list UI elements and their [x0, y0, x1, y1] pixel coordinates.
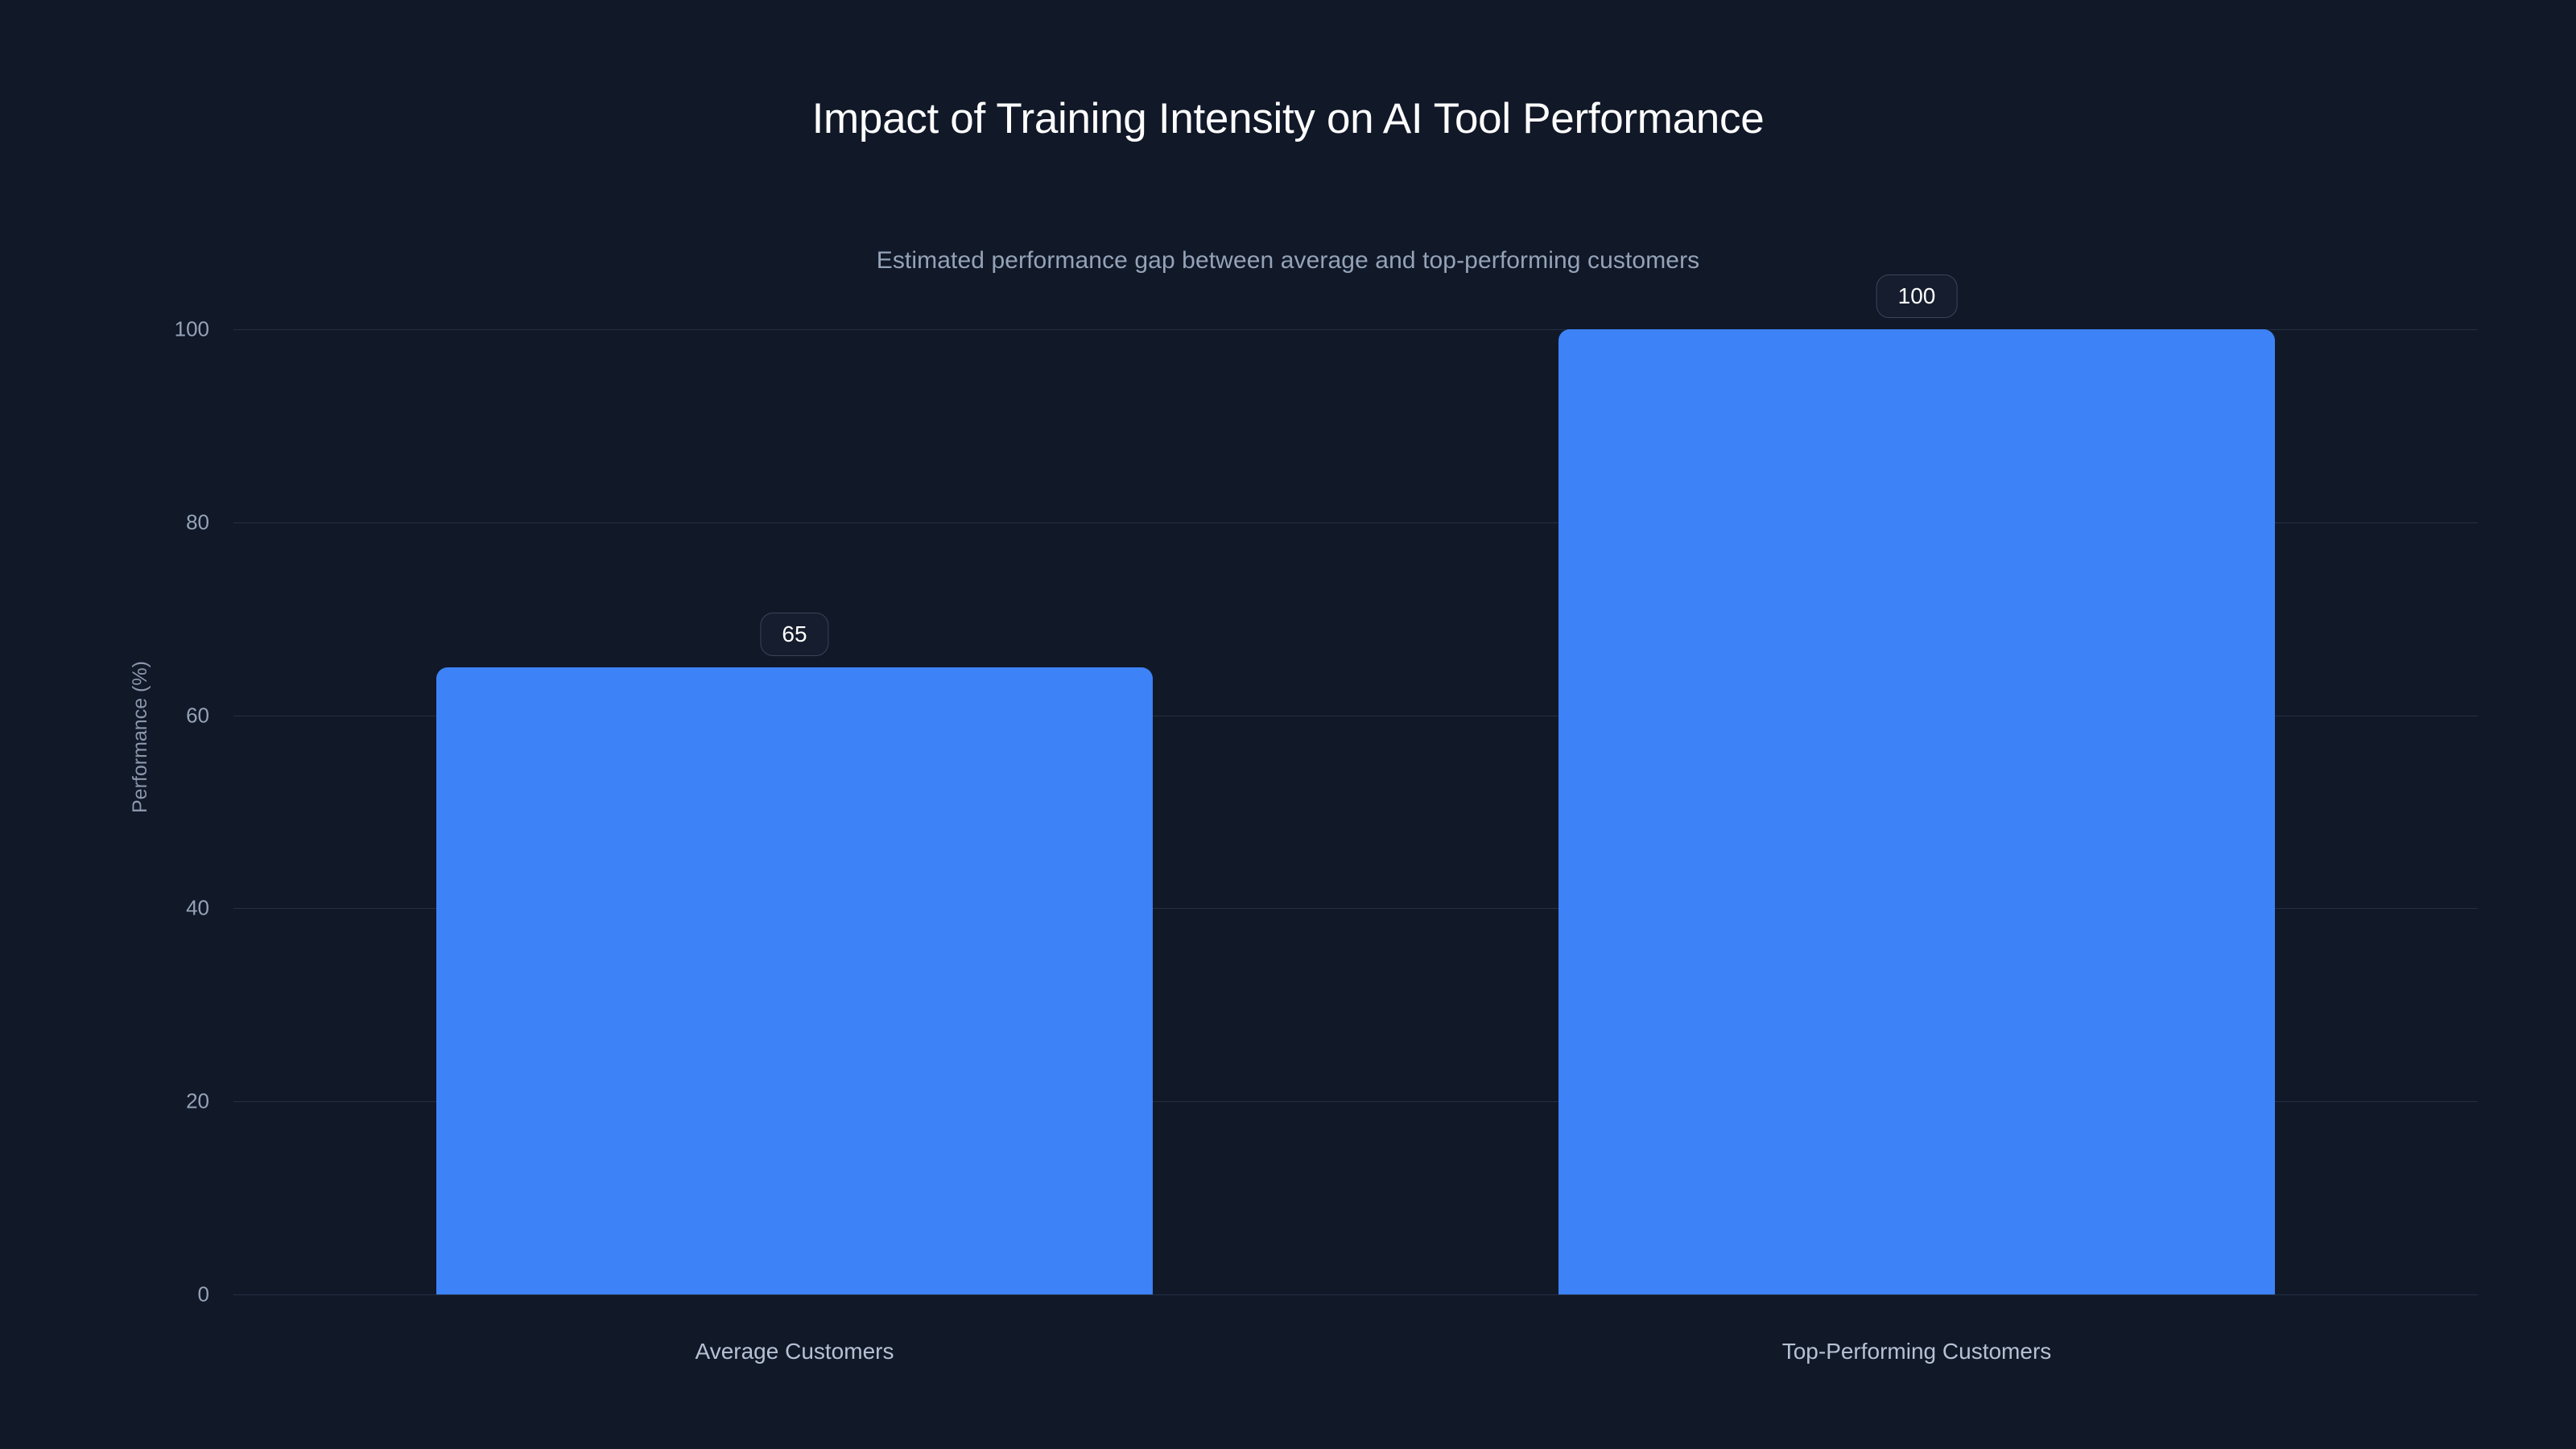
- bar-value-label: 65: [760, 613, 828, 656]
- plot-area: [233, 329, 2478, 1294]
- bar-value-label: 100: [1876, 275, 1958, 318]
- y-axis-tick-label: 20: [89, 1089, 209, 1114]
- x-axis-category-label: Average Customers: [696, 1339, 894, 1364]
- y-axis-tick-label: 100: [89, 317, 209, 342]
- y-axis-tick-label: 0: [89, 1282, 209, 1307]
- bar[interactable]: [436, 667, 1153, 1294]
- y-axis-tick-label: 40: [89, 896, 209, 921]
- x-axis-category-label: Top-Performing Customers: [1782, 1339, 2052, 1364]
- y-axis-label-text: Performance (%): [129, 661, 152, 813]
- bar-chart: Impact of Training Intensity on AI Tool …: [0, 0, 2576, 1449]
- y-axis-tick-label: 60: [89, 703, 209, 728]
- y-axis-tick-label: 80: [89, 510, 209, 535]
- chart-title: Impact of Training Intensity on AI Tool …: [0, 94, 2576, 143]
- gridline: [233, 1294, 2478, 1295]
- bar[interactable]: [1558, 329, 2275, 1294]
- chart-subtitle: Estimated performance gap between averag…: [0, 247, 2576, 275]
